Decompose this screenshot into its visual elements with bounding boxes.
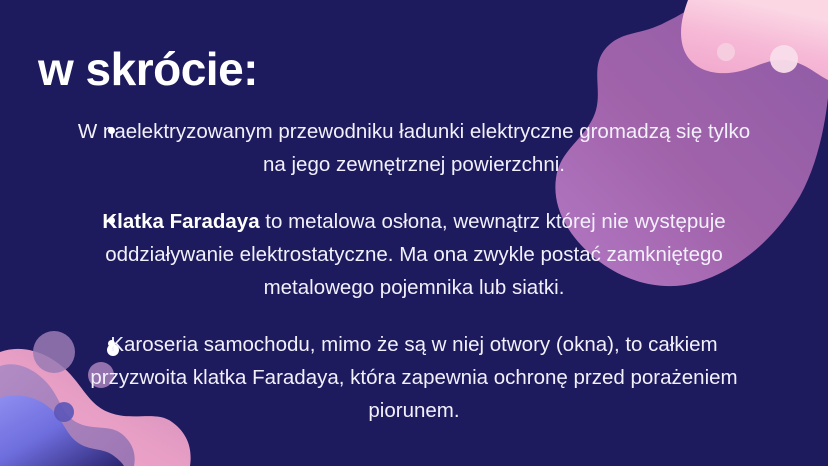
bullet-marker-icon (108, 127, 115, 134)
bullet-body-3: Karoseria samochodu, mimo że są w niej o… (90, 333, 737, 422)
bullet-lead-bold-2: Klatka Faradaya (102, 210, 259, 233)
light-dot-small (717, 43, 735, 61)
bullet-text-1: W naelektryzowanym przewodniku ładunki e… (60, 115, 768, 181)
bullet-text-3: Karoseria samochodu, mimo że są w niej o… (60, 328, 768, 427)
slide-title: w skrócie: (38, 44, 258, 95)
bullet-marker-icon (108, 217, 115, 224)
bullet-marker-icon (108, 340, 115, 347)
light-dot-large (770, 45, 798, 73)
bullet-item-2: Klatka Faradaya to metalowa osłona, wewn… (60, 205, 768, 304)
pink-blob-top-right (681, 0, 828, 80)
bullet-item-1: W naelektryzowanym przewodniku ładunki e… (60, 115, 768, 181)
bullet-item-3: Karoseria samochodu, mimo że są w niej o… (60, 328, 768, 427)
presentation-slide: w skrócie: W naelektryzowanym przewodnik… (0, 0, 828, 466)
bullet-body-1: W naelektryzowanym przewodniku ładunki e… (78, 120, 750, 176)
bullet-text-2: Klatka Faradaya to metalowa osłona, wewn… (60, 205, 768, 304)
bullet-list: W naelektryzowanym przewodniku ładunki e… (60, 115, 768, 427)
